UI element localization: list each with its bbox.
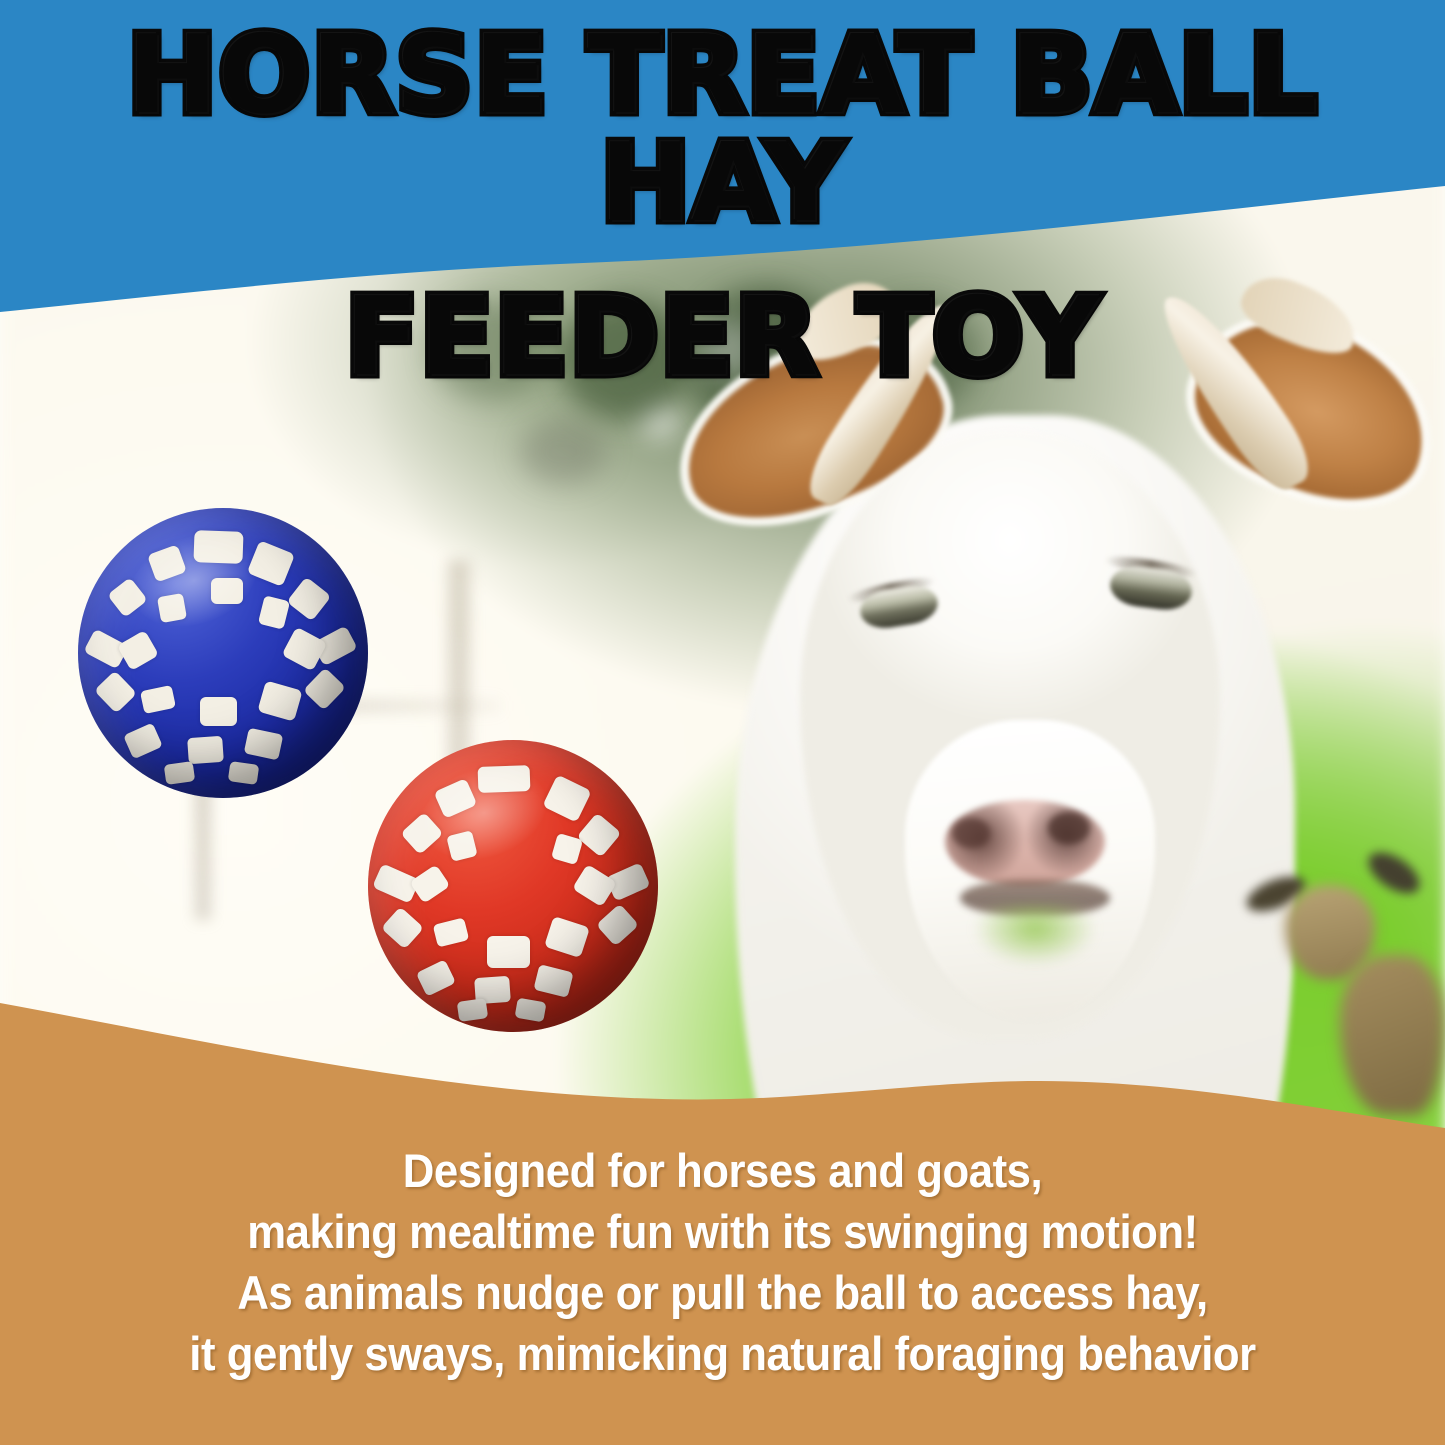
goat-chin-grass-tint <box>975 905 1095 965</box>
header-wave-shape <box>0 0 1445 330</box>
goat-nostril-left <box>952 818 990 848</box>
blue-lattice-treat-ball <box>78 508 368 798</box>
footer-description: Designed for horses and goats, making me… <box>0 1140 1445 1384</box>
footer-line-1: Designed for horses and goats, <box>51 1140 1395 1201</box>
goat-nostril-right <box>1048 812 1090 844</box>
footer-line-4: it gently sways, mimicking natural forag… <box>51 1323 1395 1384</box>
bokeh-dark <box>520 420 606 484</box>
footer-line-3: As animals nudge or pull the ball to acc… <box>51 1262 1395 1323</box>
footer-line-2: making mealtime fun with its swinging mo… <box>51 1201 1395 1262</box>
marketing-image: HORSE TREAT BALL HAY FEEDER TOY Designed… <box>0 0 1445 1445</box>
